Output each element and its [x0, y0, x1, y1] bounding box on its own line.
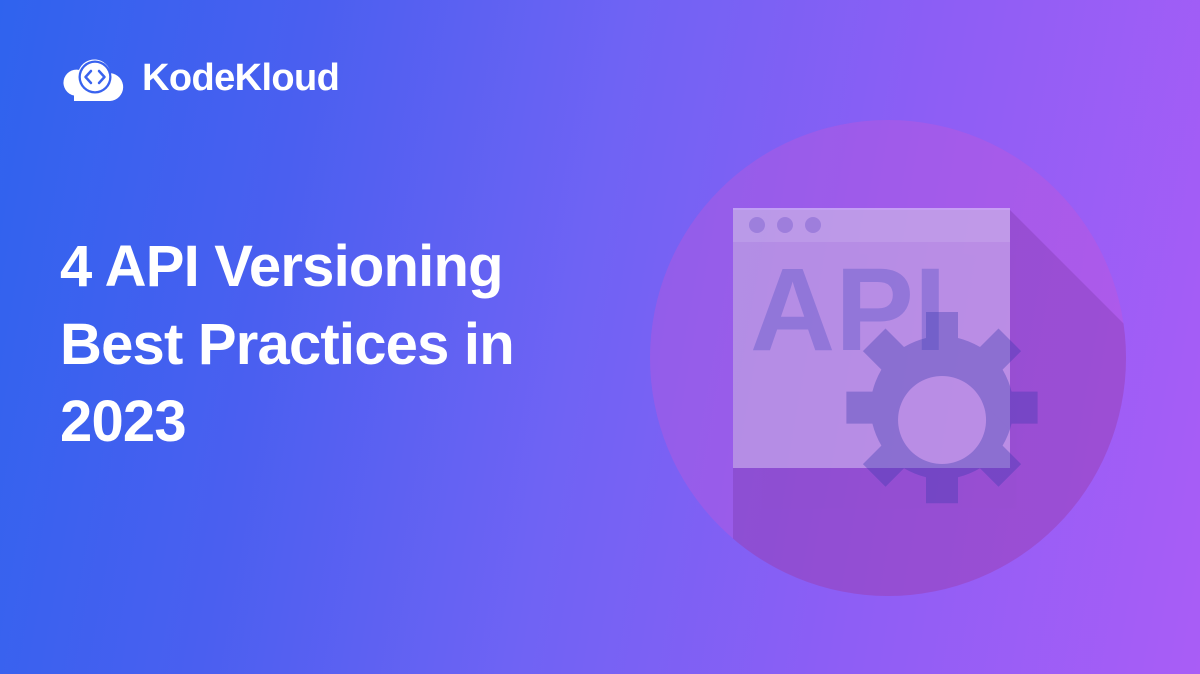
window-dots [749, 217, 821, 233]
cloud-code-icon [58, 52, 126, 104]
dot-green [805, 217, 821, 233]
api-settings-illustration: API [650, 120, 1126, 596]
browser-window: API [733, 208, 1010, 468]
dot-yellow [777, 217, 793, 233]
brand-logo[interactable]: KodeKloud [58, 52, 339, 104]
cover-canvas: KodeKloud 4 API Versioning Best Practice… [0, 0, 1200, 674]
brand-name: KodeKloud [142, 59, 339, 97]
window-titlebar [733, 208, 1010, 242]
dot-red [749, 217, 765, 233]
page-title: 4 API Versioning Best Practices in 2023 [60, 228, 620, 461]
